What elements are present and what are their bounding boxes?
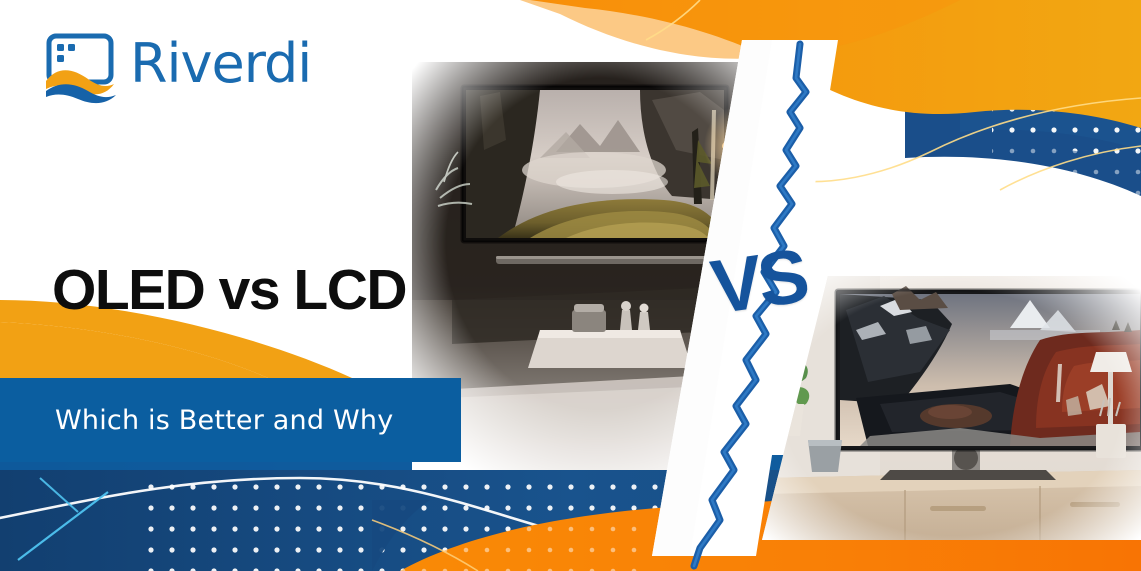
- display-screen-with-wave-icon: [44, 31, 120, 105]
- versus-label: VS: [706, 233, 810, 330]
- subtitle-text: Which is Better and Why: [55, 405, 393, 436]
- brand-name: Riverdi: [130, 37, 311, 91]
- versus-badge: VS: [707, 236, 831, 360]
- subtitle-banner: Which is Better and Why: [0, 378, 461, 462]
- riverdi-logo[interactable]: Riverdi: [44, 28, 334, 108]
- page-title: OLED vs LCD: [52, 262, 406, 319]
- promo-banner: Riverdi OLED vs LCD Which is Better and …: [0, 0, 1141, 571]
